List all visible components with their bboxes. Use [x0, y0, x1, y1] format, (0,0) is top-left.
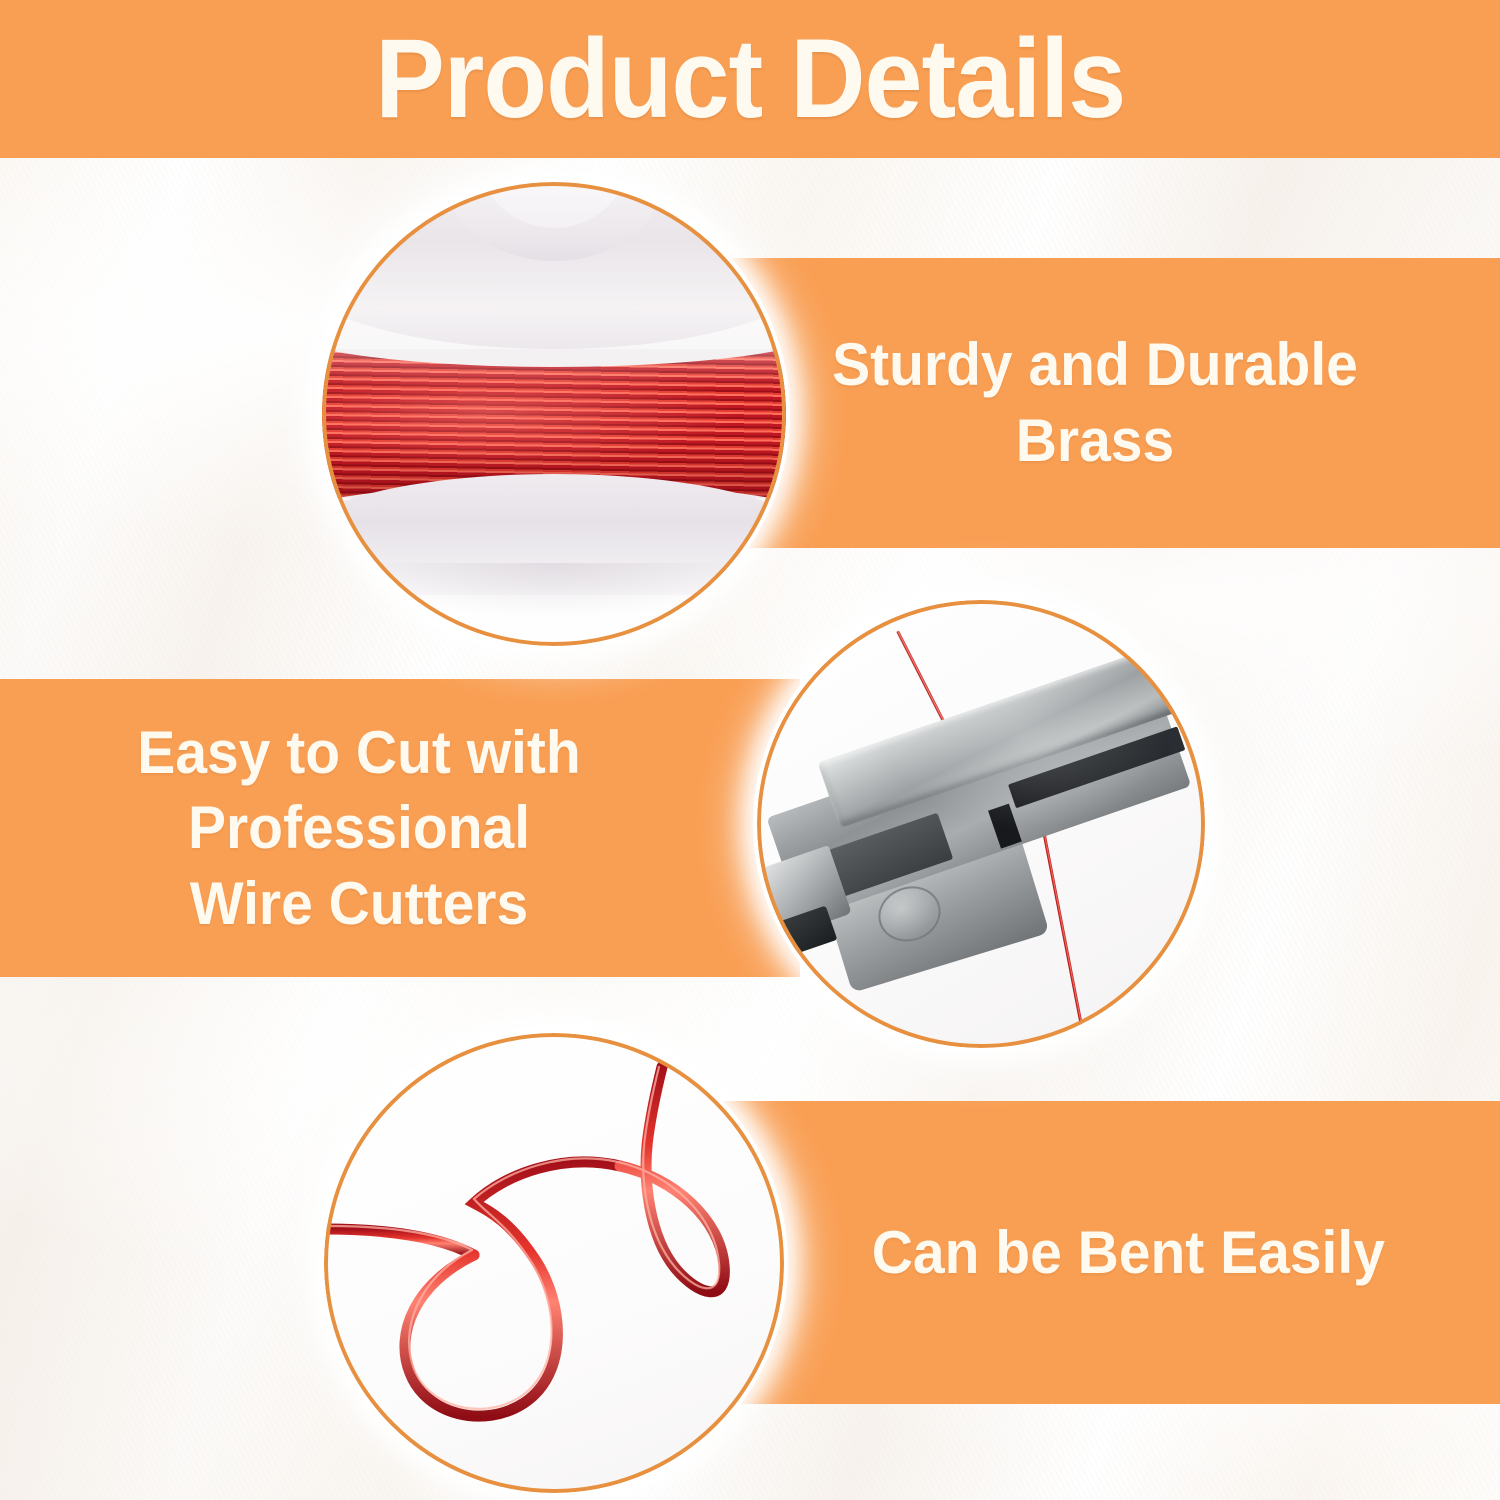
feature-band-sturdy: Sturdy and Durable Brass: [728, 258, 1500, 548]
feature-label-sturdy: Sturdy and Durable Brass: [747, 327, 1480, 478]
feature-band-bendable: Can be Bent Easily: [728, 1101, 1500, 1404]
bent-wire-drawing: [324, 1033, 784, 1493]
feature-image-wire-cutters: [757, 600, 1205, 1048]
wire-upper-loop: [620, 1067, 724, 1292]
wire-lower-loop: [405, 1162, 620, 1416]
photo-bent-wire: [324, 1033, 784, 1493]
page-title: Product Details: [375, 23, 1125, 135]
feature-image-wire-spool: [322, 182, 786, 646]
photo-wire-cutters: [757, 600, 1205, 1048]
feature-label-easy-cut: Easy to Cut with Professional Wire Cutte…: [19, 715, 755, 942]
feature-band-easy-cut: Easy to Cut with Professional Wire Cutte…: [0, 679, 775, 977]
feature-label-bendable: Can be Bent Easily: [843, 1215, 1385, 1291]
product-details-infographic: Product Details Sturdy and Durable Brass…: [0, 0, 1500, 1500]
spool-base-shadow: [341, 563, 768, 637]
photo-wire-spool: [322, 182, 786, 646]
header-banner: Product Details: [0, 0, 1500, 158]
feature-image-bent-wire: [324, 1033, 784, 1493]
